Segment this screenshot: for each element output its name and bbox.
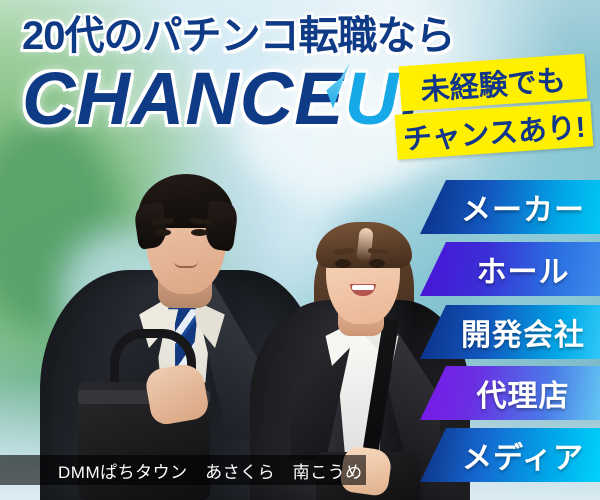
female-eye-right	[369, 259, 385, 268]
female-eye-left	[335, 259, 351, 268]
category-label-agency: 代理店	[451, 371, 570, 415]
chance-up-logo: CHANCEUP	[22, 62, 442, 136]
category-banner-maker[interactable]: メーカー	[420, 180, 600, 234]
advertisement-banner[interactable]: 20代のパチンコ転職なら CHANCEUP 未経験でも チャンスあり! メーカー…	[0, 0, 600, 500]
category-banner-hall[interactable]: ホール	[420, 242, 600, 296]
headline-text: 20代のパチンコ転職なら	[22, 16, 452, 56]
male-mouth	[174, 261, 198, 268]
category-label-development-company: 開発会社	[435, 310, 585, 354]
logo-word-chance: CHANCE	[22, 57, 345, 140]
male-eye-right	[191, 229, 208, 236]
female-teeth	[352, 285, 374, 290]
badge-no-experience-label: 未経験でも	[419, 56, 567, 108]
category-label-maker: メーカー	[435, 185, 585, 229]
male-eye-left	[154, 229, 171, 236]
category-banner-agency[interactable]: 代理店	[420, 366, 600, 420]
category-label-media: メディア	[436, 433, 584, 477]
category-label-hall: ホール	[451, 247, 570, 291]
category-banner-media[interactable]: メディア	[420, 428, 600, 482]
logo-letter-u: U	[345, 57, 399, 140]
category-banner-development-company[interactable]: 開発会社	[420, 305, 600, 359]
caption-bar: DMMぱちタウン あさくら 南こうめ	[0, 455, 366, 485]
caption-text: DMMぱちタウン あさくら 南こうめ	[0, 458, 363, 483]
